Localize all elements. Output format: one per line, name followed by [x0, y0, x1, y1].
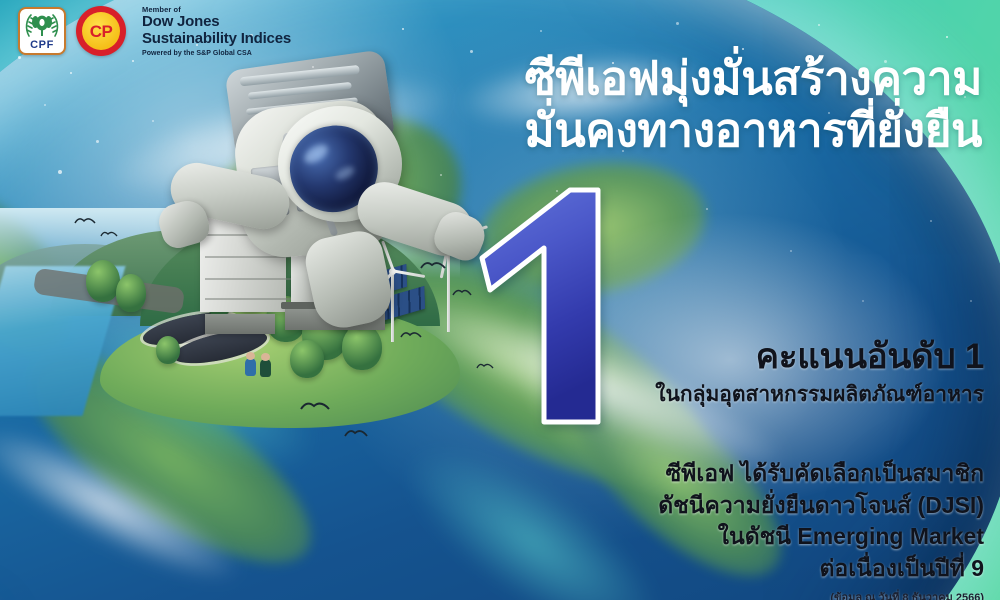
water-treatment-pond: [140, 306, 239, 351]
flying-birds: [100, 230, 118, 238]
djsi-line-1: Dow Jones: [142, 14, 291, 31]
flying-birds: [400, 330, 422, 339]
rank-title: คะแนนอันดับ 1: [655, 338, 984, 376]
headline: ซีพีเอฟมุ่งมั่นสร้างความ มั่นคงทางอาหารท…: [524, 52, 982, 157]
solar-panel-array: [309, 278, 377, 320]
flying-birds: [420, 260, 446, 270]
astronaut-figure: [160, 52, 490, 352]
body-block: ซีพีเอฟ ได้รับคัดเลือกเป็นสมาชิก ดัชนีคว…: [658, 458, 984, 600]
body-line-4: ต่อเนื่องเป็นปีที่ 9: [658, 553, 984, 585]
headline-line-1: ซีพีเอฟมุ่งมั่นสร้างความ: [524, 52, 982, 104]
rank-subtitle: ในกลุ่มอุตสาหกรรมผลิตภัณฑ์อาหาร: [655, 382, 984, 407]
solar-panel-array: [291, 256, 359, 298]
wind-turbines: [330, 250, 370, 316]
body-line-1: ซีพีเอฟ ได้รับคัดเลือกเป็นสมาชิก: [658, 458, 984, 490]
logo-bar: CPF CP Member of Dow Jones Sustainabilit…: [18, 6, 291, 57]
headline-line-2: มั่นคงทางอาหารที่ยั่งยืน: [524, 104, 982, 156]
djsi-line-2: Sustainability Indices: [142, 31, 291, 48]
wind-turbines: [420, 236, 476, 332]
rank-block: คะแนนอันดับ 1 ในกลุ่มอุตสาหกรรมผลิตภัณฑ์…: [655, 338, 984, 407]
landscape-valley: [0, 208, 460, 408]
two-people-sitting: [245, 356, 279, 378]
flying-birds: [300, 400, 330, 412]
cp-logo: CP: [76, 6, 126, 56]
wind-turbines: [370, 268, 414, 342]
cpf-wreath-icon: [23, 12, 61, 39]
flying-birds: [344, 428, 368, 438]
poster-canvas: CPF: [0, 0, 1000, 600]
cpf-logo-text: CPF: [30, 40, 54, 51]
body-footnote: (ข้อมูล ณ วันที่ 8 ธันวาคม 2566): [658, 588, 984, 600]
cpf-logo: CPF: [18, 7, 66, 55]
plant-logo-text: CPF: [214, 207, 250, 213]
water-treatment-pond: [170, 324, 269, 369]
djsi-lockup: Member of Dow Jones Sustainability Indic…: [142, 6, 291, 57]
flying-birds: [476, 362, 494, 370]
solar-panel-array: [339, 264, 407, 306]
cpf-factory-building: CPF: [195, 182, 410, 342]
solar-panel-array: [357, 286, 425, 328]
plant-cpf-logo: CPF: [214, 192, 250, 218]
river: [0, 266, 126, 416]
flying-birds: [74, 216, 96, 225]
big-number-one: [478, 186, 604, 426]
cp-logo-text: CP: [90, 23, 113, 40]
djsi-powered-by: Powered by the S&P Global CSA: [142, 50, 291, 57]
body-line-3: ในดัชนี Emerging Market: [658, 521, 984, 553]
flying-birds: [452, 288, 472, 297]
body-line-2: ดัชนีความยั่งยืนดาวโจนส์ (DJSI): [658, 490, 984, 522]
